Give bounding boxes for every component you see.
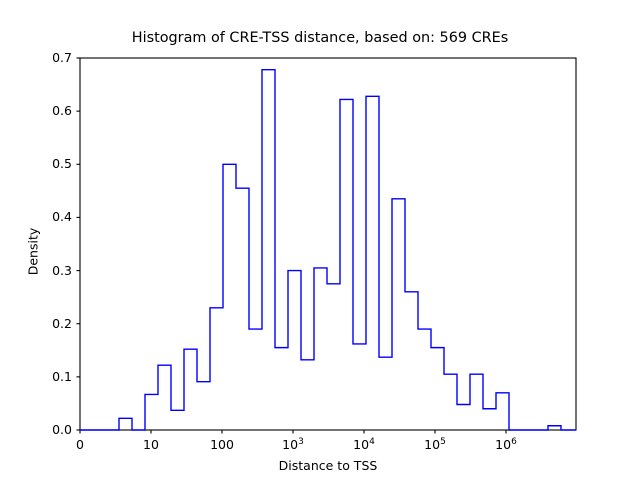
y-tick-label: 0.5 (32, 156, 72, 171)
x-tick-label: 100 (192, 437, 252, 452)
plot-area (0, 0, 640, 480)
y-tick-label: 0.6 (32, 103, 72, 118)
x-tick-label: 10 (121, 437, 181, 452)
x-tick-label: 106 (476, 437, 536, 452)
y-tick-label: 0.7 (32, 50, 72, 65)
x-tick-label: 105 (405, 437, 465, 452)
axes-spines (80, 58, 576, 430)
y-tick-label: 0.3 (32, 263, 72, 278)
x-tick-label: 0 (50, 437, 110, 452)
axes-frame (80, 58, 576, 430)
y-tick-label: 0.4 (32, 209, 72, 224)
y-tick-label: 0.2 (32, 316, 72, 331)
y-tick-label: 0.1 (32, 369, 72, 384)
figure-canvas: Histogram of CRE-TSS distance, based on:… (0, 0, 640, 480)
y-tick-label: 0.0 (32, 422, 72, 437)
x-tick-label: 103 (263, 437, 323, 452)
x-tick-label: 104 (334, 437, 394, 452)
